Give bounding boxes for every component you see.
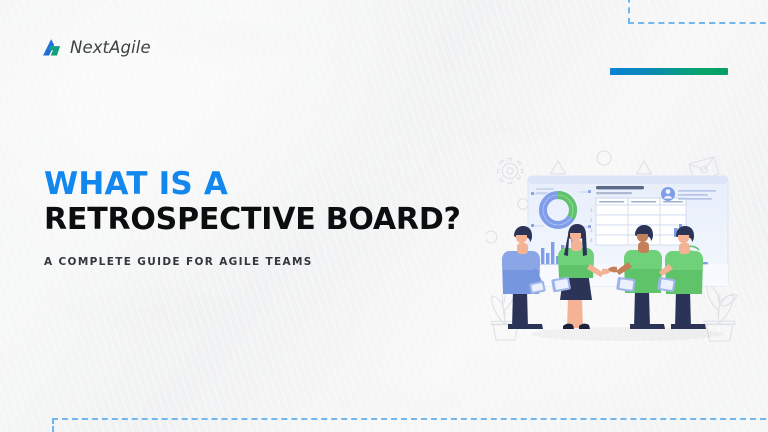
poster-canvas: NextAgile WHAT IS A RETROSPECTIVE BOARD?… — [0, 0, 768, 432]
title-line-two: RETROSPECTIVE BOARD? — [44, 203, 474, 237]
circle-outline-top — [597, 151, 611, 165]
headline-block: WHAT IS A RETROSPECTIVE BOARD? A COMPLET… — [44, 168, 474, 268]
dashed-line-top-right-vertical — [628, 0, 630, 24]
brand-logo[interactable]: NextAgile — [40, 36, 151, 59]
dashed-line-bottom-left-vertical — [52, 418, 54, 432]
subtitle: A COMPLETE GUIDE FOR AGILE TEAMS — [44, 256, 474, 268]
triangle-outline-up — [551, 161, 566, 174]
dashed-line-bottom-horizontal — [52, 418, 768, 420]
hero-illustration: 12 34 — [486, 138, 768, 346]
triangle-outline-down — [637, 161, 652, 174]
brand-name: NextAgile — [70, 38, 151, 57]
nextagile-arrow-mark-icon — [40, 36, 63, 59]
title-line-one: WHAT IS A — [44, 168, 474, 201]
dashed-line-top-right-horizontal — [628, 22, 768, 24]
accent-gradient-bar — [610, 68, 728, 75]
